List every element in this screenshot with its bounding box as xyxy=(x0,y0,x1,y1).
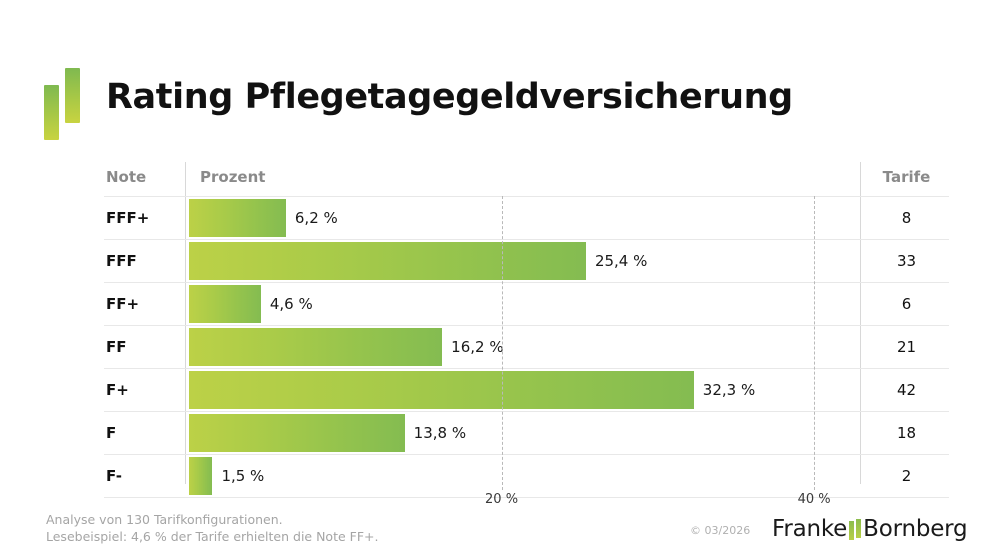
bar-value-label: 13,8 % xyxy=(414,412,466,454)
bar-value-label: 4,6 % xyxy=(270,283,313,325)
bar xyxy=(189,199,286,237)
copyright-text: © 03/2026 xyxy=(690,524,750,537)
bar-value-label: 16,2 % xyxy=(451,326,503,368)
table-row: FF+4,6 %6 xyxy=(104,283,949,326)
rating-chart: Note Prozent Tarife FFF+6,2 %8FFF25,4 %3… xyxy=(104,160,949,490)
bar xyxy=(189,242,586,280)
page-footer: Analyse von 130 Tarifkonfigurationen. Le… xyxy=(0,500,1000,556)
chart-rows: FFF+6,2 %8FFF25,4 %33FF+4,6 %6FF16,2 %21… xyxy=(104,196,949,498)
franke-bornberg-wordmark: FrankeBornberg xyxy=(772,516,967,542)
cell-note: FF+ xyxy=(106,283,184,325)
page-title: Rating Pflegetagegeldversicherung xyxy=(106,77,793,117)
bar-value-label: 25,4 % xyxy=(595,240,647,282)
cell-tarife: 2 xyxy=(864,455,949,497)
footer-note-line-1: Analyse von 130 Tarifkonfigurationen. xyxy=(46,511,378,528)
cell-bar: 16,2 % xyxy=(189,326,949,368)
cell-tarife: 18 xyxy=(864,412,949,454)
cell-note: F- xyxy=(106,455,184,497)
column-header-tarife: Tarife xyxy=(864,168,949,186)
cell-bar: 1,5 % xyxy=(189,455,949,497)
cell-note: FF xyxy=(106,326,184,368)
table-row: FF16,2 %21 xyxy=(104,326,949,369)
logo-bar-right xyxy=(65,68,80,123)
cell-bar: 13,8 % xyxy=(189,412,949,454)
footer-note-line-2: Lesebeispiel: 4,6 % der Tarife erhielten… xyxy=(46,528,378,545)
brand-name-right: Bornberg xyxy=(863,516,967,542)
bar xyxy=(189,414,405,452)
logo-bar-left xyxy=(44,85,59,140)
bar xyxy=(189,371,694,409)
cell-tarife: 21 xyxy=(864,326,949,368)
cell-bar: 6,2 % xyxy=(189,197,949,239)
footer-notes: Analyse von 130 Tarifkonfigurationen. Le… xyxy=(46,511,378,545)
cell-tarife: 6 xyxy=(864,283,949,325)
column-header-note: Note xyxy=(106,168,146,186)
cell-tarife: 33 xyxy=(864,240,949,282)
cell-bar: 4,6 % xyxy=(189,283,949,325)
table-row: F+32,3 %42 xyxy=(104,369,949,412)
cell-note: FFF xyxy=(106,240,184,282)
page-header: Rating Pflegetagegeldversicherung xyxy=(0,0,1000,150)
table-row: FFF25,4 %33 xyxy=(104,240,949,283)
table-row: FFF+6,2 %8 xyxy=(104,196,949,240)
table-row: F13,8 %18 xyxy=(104,412,949,455)
column-header-prozent: Prozent xyxy=(200,168,265,186)
bar-value-label: 1,5 % xyxy=(221,455,264,497)
bar xyxy=(189,457,212,495)
cell-note: F+ xyxy=(106,369,184,411)
bar-value-label: 6,2 % xyxy=(295,197,338,239)
cell-tarife: 8 xyxy=(864,197,949,239)
cell-bar: 32,3 % xyxy=(189,369,949,411)
bar xyxy=(189,328,442,366)
cell-note: F xyxy=(106,412,184,454)
franke-bornberg-bars-icon xyxy=(44,68,88,140)
cell-note: FFF+ xyxy=(106,197,184,239)
cell-tarife: 42 xyxy=(864,369,949,411)
bar xyxy=(189,285,261,323)
brand-name-left: Franke xyxy=(772,516,847,542)
brand-bars-icon xyxy=(847,519,863,539)
cell-bar: 25,4 % xyxy=(189,240,949,282)
bar-value-label: 32,3 % xyxy=(703,369,755,411)
table-header-row: Note Prozent Tarife xyxy=(104,160,949,196)
